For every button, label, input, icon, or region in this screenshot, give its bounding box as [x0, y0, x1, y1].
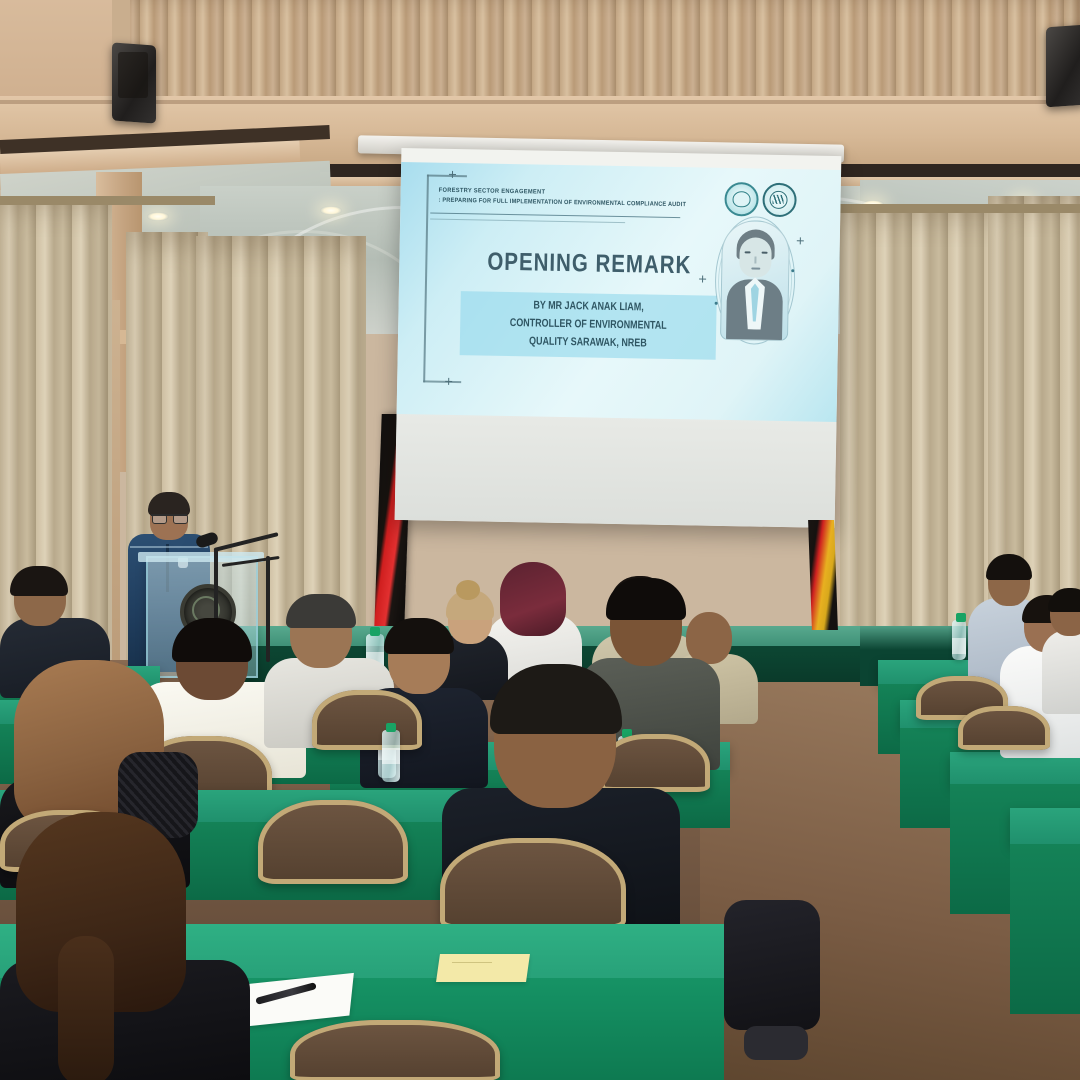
downlight-icon-1	[147, 212, 169, 221]
portrait-mouth	[751, 267, 760, 269]
slide-footer-line1	[435, 375, 615, 378]
official-hair	[148, 492, 190, 516]
slide-rule-2	[430, 219, 625, 224]
backpack	[724, 900, 820, 1030]
attendee-right-edge-torso	[1042, 630, 1080, 714]
attendee-right-edge	[1042, 590, 1080, 710]
bottle-label	[382, 748, 400, 764]
chair-gold-trim	[312, 690, 422, 750]
official-glasses-bridge	[151, 514, 187, 524]
curtain-rod-right	[840, 204, 1080, 213]
chair-gold-trim	[958, 706, 1050, 750]
nreb-logo-inner	[732, 191, 750, 207]
attendee-right-aisle-hair	[986, 554, 1032, 580]
slide-subtitle: BY MR JACK ANAK LIAM, CONTROLLER OF ENVI…	[485, 296, 691, 354]
bottle-label	[952, 638, 966, 654]
chair-gold-trim	[290, 1020, 500, 1080]
shoe	[744, 1026, 808, 1060]
chair-gold-trim	[440, 838, 626, 930]
banquet-table-right-4-skirt	[1010, 844, 1080, 1014]
slide-crosshair-icon-4	[797, 237, 804, 244]
banquet-chair-near-2	[440, 838, 626, 930]
attendee-row2-white-shirt-hair	[172, 618, 252, 662]
attendee-row3-red-hair-hair	[500, 562, 566, 636]
portrait-nose	[754, 256, 756, 263]
attendee-row2-navy-hair	[606, 578, 686, 620]
banquet-table-right-4	[1010, 808, 1080, 846]
slide-rule-1	[430, 213, 680, 219]
curtain-rod-left	[0, 196, 215, 205]
slide-frame-top	[427, 174, 467, 177]
ceremonial-flag-right	[808, 520, 838, 630]
water-bottle-near-1	[382, 730, 400, 782]
slide-kicker: FORESTRY SECTOR ENGAGEMENT : PREPARING F…	[438, 187, 738, 211]
slide-frame-bottom	[423, 380, 461, 383]
slide-subtitle-line3: QUALITY SARAWAK, NREB	[485, 332, 690, 354]
official-shirt-trim	[130, 546, 208, 548]
wall-speaker-right-icon	[1046, 25, 1080, 108]
slide-footer-line2	[435, 375, 615, 378]
slide-title: OPENING REMARK	[483, 248, 697, 281]
presentation-slide: FORESTRY SECTOR ENGAGEMENT : PREPARING F…	[397, 162, 842, 422]
banquet-chair-mid-2	[312, 690, 422, 750]
water-bottle-right-1	[952, 620, 966, 660]
banquet-chair-foreground	[290, 1020, 500, 1080]
attendee-front-left-ponytail	[58, 936, 114, 1080]
attendee-front-center-hair	[490, 664, 622, 734]
projection-screen: FORESTRY SECTOR ENGAGEMENT : PREPARING F…	[395, 148, 842, 528]
attendee-front-left	[0, 812, 250, 1080]
projection-screen-blank-area	[395, 410, 837, 528]
downlight-icon-2	[320, 206, 342, 215]
slide-frame-line	[423, 174, 429, 382]
attendee-right-edge-hair	[1048, 588, 1080, 612]
attendee-left-edge-hair	[10, 566, 68, 596]
attendee-row2-dark-suit-hair	[384, 618, 454, 654]
wall-shadow-line	[0, 100, 1080, 104]
speaker-portrait	[714, 216, 794, 345]
portrait-dot-2	[715, 302, 718, 305]
wall-speaker-left-grill	[118, 52, 148, 98]
yellow-notepad	[436, 954, 530, 982]
notepad-ruling	[452, 962, 492, 963]
slide-crosshair-icon-1	[449, 171, 456, 178]
conference-hall-photo: FORESTRY SECTOR ENGAGEMENT : PREPARING F…	[0, 0, 1080, 1080]
banquet-chair-near-1	[258, 800, 408, 884]
slide-footer	[435, 375, 615, 378]
secondary-logo-bars	[772, 195, 783, 204]
secondary-agency-logo-icon	[762, 183, 797, 218]
attendee-row3-bun-knot	[456, 580, 480, 600]
nreb-logo-icon	[724, 182, 759, 217]
chair-gold-trim	[258, 800, 408, 884]
slide-crosshair-icon-3	[699, 275, 706, 282]
portrait-frame	[720, 220, 790, 341]
portrait-dot-1	[791, 269, 794, 272]
attendee-row2-grey-hair	[286, 594, 356, 628]
slide-crosshair-icon-2	[445, 378, 452, 385]
banquet-chair-right-2	[958, 706, 1050, 750]
